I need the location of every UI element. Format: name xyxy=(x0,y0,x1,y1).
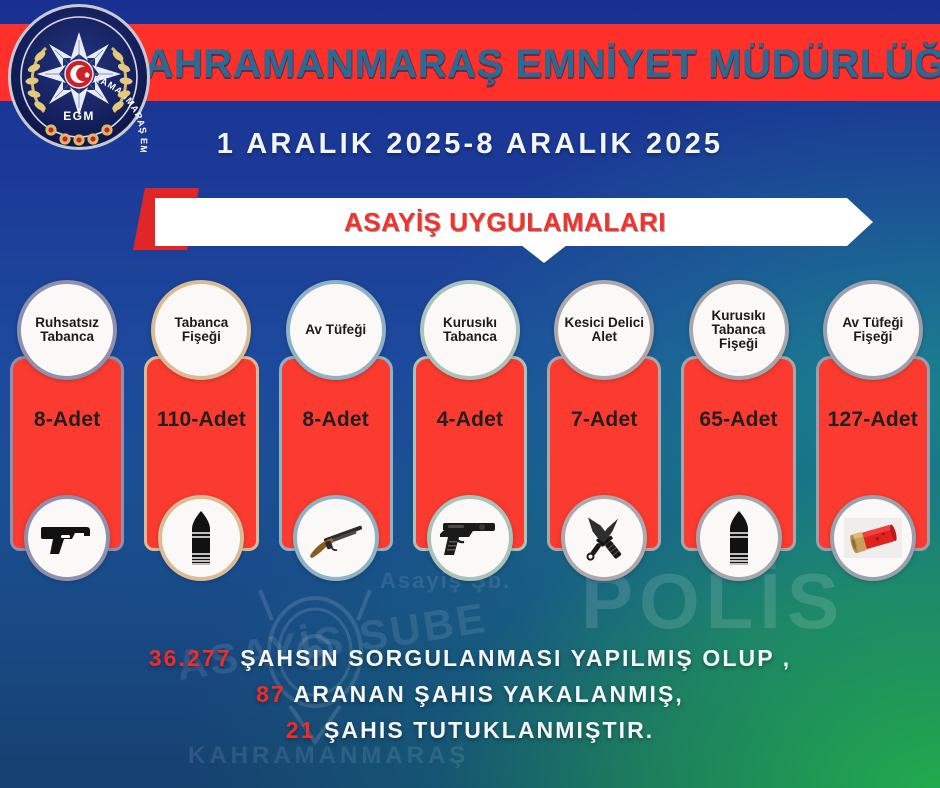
card-icon-bubble xyxy=(293,495,379,581)
statement-number-arrested: 21 xyxy=(286,717,316,743)
stat-card: Kurusıkı Tabanca Fişeği 65-Adet xyxy=(671,280,805,580)
card-label-bubble: Kurusıkı Tabanca xyxy=(420,280,520,380)
card-icon-bubble xyxy=(427,495,513,581)
statement-number-caught: 87 xyxy=(256,681,286,707)
card-label-bubble: Av Tüfeği Fişeği xyxy=(823,280,923,380)
knife-dagger-icon xyxy=(576,510,632,566)
card-count: 7-Adet xyxy=(537,408,671,432)
stat-card: Ruhsatsız Tabanca 8-Adet xyxy=(0,280,134,580)
card-label-bubble: Kurusıkı Tabanca Fişeği xyxy=(689,280,789,380)
shotgun-icon xyxy=(307,516,365,560)
statement-line-2: 87 ARANAN ŞAHIS YAKALANMIŞ, xyxy=(0,676,940,712)
stat-card: Av Tüfeği Fişeği 127-Adet xyxy=(806,280,940,580)
card-label-bubble: Av Tüfeği xyxy=(286,280,386,380)
card-label: Kurusıkı Tabanca Fişeği xyxy=(693,309,785,352)
card-icon-bubble xyxy=(696,495,782,581)
ribbon-label: ASAYİŞ UYGULAMALARI xyxy=(155,198,855,246)
emblem-egm-text: EGM xyxy=(63,109,95,123)
statement-number-queried: 36.277 xyxy=(149,645,232,671)
statement-line-3: 21 ŞAHIS TUTUKLANMIŞTIR. xyxy=(0,712,940,748)
ribbon-notch xyxy=(521,245,567,263)
page-title: KAHRAMANMARAŞ EMNİYET MÜDÜRLÜĞÜ xyxy=(150,33,940,95)
card-count: 8-Adet xyxy=(269,408,403,432)
card-icon-bubble xyxy=(158,495,244,581)
bullet-icon xyxy=(726,510,752,566)
card-count: 65-Adet xyxy=(671,408,805,432)
card-icon-bubble xyxy=(24,495,110,581)
card-icon-bubble xyxy=(830,495,916,581)
section-ribbon: ASAYİŞ UYGULAMALARI xyxy=(133,188,873,256)
pistol-icon xyxy=(39,518,95,558)
card-count: 127-Adet xyxy=(806,408,940,432)
card-count: 4-Adet xyxy=(403,408,537,432)
card-label-bubble: Kesici Delici Alet xyxy=(554,280,654,380)
stat-card-list: Ruhsatsız Tabanca 8-Adet Tabanca Fişeği … xyxy=(0,280,940,580)
date-range-label: 1 ARALIK 2025-8 ARALIK 2025 xyxy=(0,128,940,161)
shotgun-shell-icon xyxy=(842,516,904,560)
bullet-icon xyxy=(188,510,214,566)
statement-text-queried: ŞAHSIN SORGULANMASI YAPILMIŞ OLUP , xyxy=(240,645,791,671)
card-label: Kurusıkı Tabanca xyxy=(424,316,516,344)
card-label: Av Tüfeği Fişeği xyxy=(827,316,919,344)
card-label: Ruhsatsız Tabanca xyxy=(21,316,113,344)
beretta-pistol-icon xyxy=(440,515,500,561)
stat-card: Av Tüfeği 8-Adet xyxy=(269,280,403,580)
card-label-bubble: Ruhsatsız Tabanca xyxy=(17,280,117,380)
statement-line-1: 36.277 ŞAHSIN SORGULANMASI YAPILMIŞ OLUP… xyxy=(0,640,940,676)
card-label: Kesici Delici Alet xyxy=(558,316,650,344)
card-count: 8-Adet xyxy=(0,408,134,432)
stat-card: Kurusıkı Tabanca 4-Adet xyxy=(403,280,537,580)
card-icon-bubble xyxy=(561,495,647,581)
statement-text-arrested: ŞAHIS TUTUKLANMIŞTIR. xyxy=(324,717,654,743)
infographic-poster: POLİS Asayiş Şb. ASAYİŞ ŞUBE KAHRAMANMAR… xyxy=(0,0,940,788)
card-label-bubble: Tabanca Fişeği xyxy=(151,280,251,380)
stat-card: Tabanca Fişeği 110-Adet xyxy=(134,280,268,580)
card-label: Av Tüfeği xyxy=(301,323,370,337)
stat-card: Kesici Delici Alet 7-Adet xyxy=(537,280,671,580)
card-label: Tabanca Fişeği xyxy=(155,316,247,344)
card-count: 110-Adet xyxy=(134,408,268,432)
statement-text-caught: ARANAN ŞAHIS YAKALANMIŞ, xyxy=(294,681,684,707)
summary-statement: 36.277 ŞAHSIN SORGULANMASI YAPILMIŞ OLUP… xyxy=(0,640,940,748)
